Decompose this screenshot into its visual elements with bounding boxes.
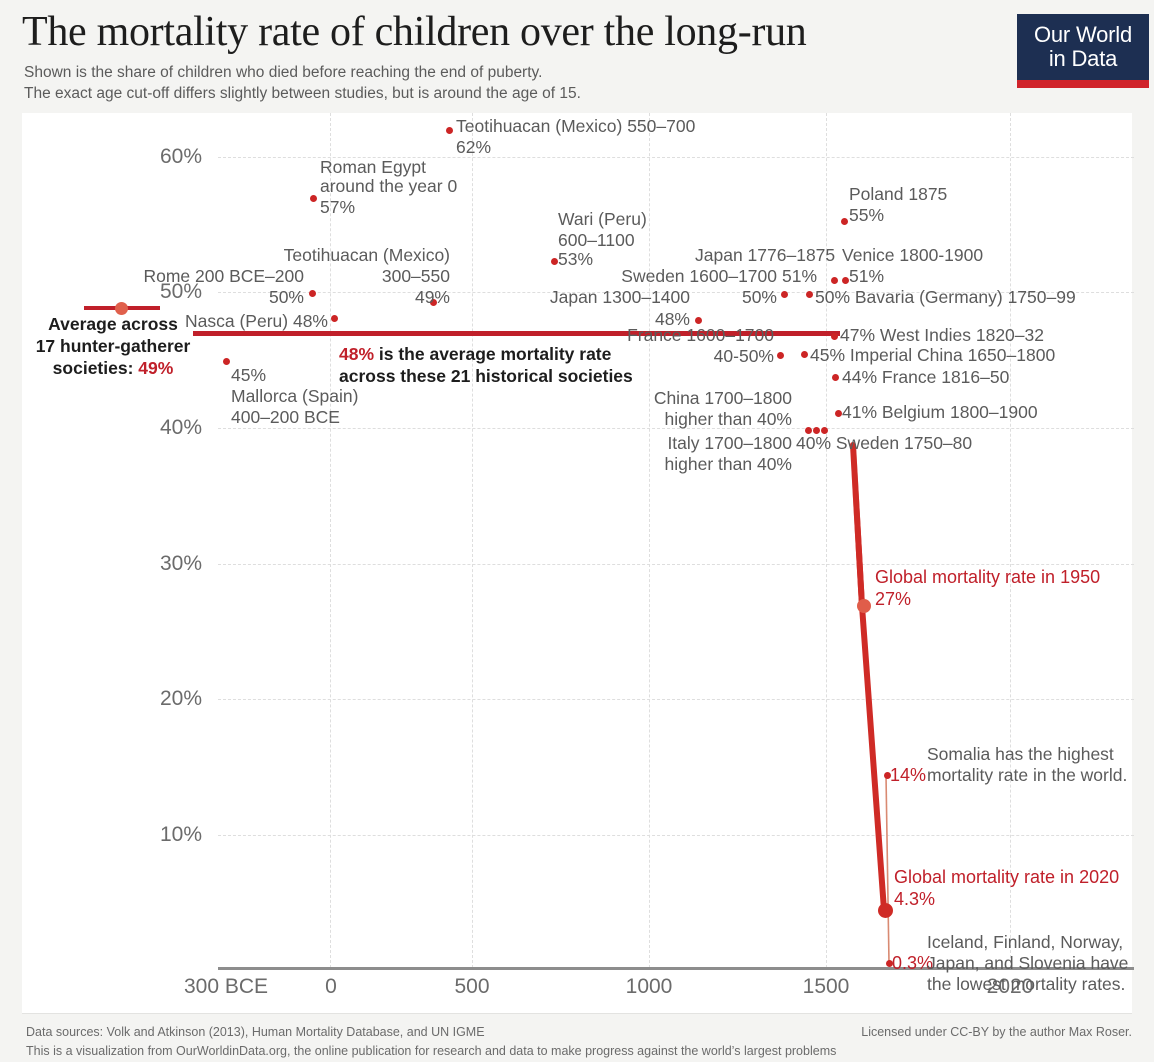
lowest-note-line-2: Japan, and Slovenia have <box>927 953 1128 974</box>
label-bavaria: 50% Bavaria (Germany) 1750–99 <box>815 287 1076 308</box>
label-roman-egypt-value: 57% <box>320 197 355 218</box>
lowest-note-line-1: Iceland, Finland, Norway, <box>927 932 1123 953</box>
hunter-gatherer-line-1: Average across <box>48 314 178 334</box>
x-tick-300bce: 300 BCE <box>166 975 286 999</box>
average-48-annotation: 48% is the average mortality rate across… <box>339 343 633 387</box>
label-china-1700-note: higher than 40% <box>612 409 792 430</box>
global-1950-title: Global mortality rate in 1950 <box>875 567 1100 588</box>
point-imperial-china-1650-1800[interactable] <box>801 351 808 358</box>
label-venice-value: 51% <box>849 266 884 287</box>
page-footer: Data sources: Volk and Atkinson (2013), … <box>0 1014 1154 1062</box>
gridline-20 <box>218 699 1134 700</box>
label-wari-l1: Wari (Peru) <box>558 209 647 230</box>
label-mallorca-name: Mallorca (Spain) <box>231 386 358 407</box>
page-header: The mortality rate of children over the … <box>0 0 1154 112</box>
point-global-1950[interactable] <box>857 599 871 613</box>
global-2020-value: 4.3% <box>894 889 935 910</box>
point-mallorca-spain[interactable] <box>223 358 230 365</box>
point-roman-egypt[interactable] <box>310 195 317 202</box>
global-2020-title: Global mortality rate in 2020 <box>894 867 1119 888</box>
footer-publication[interactable]: This is a visualization from OurWorldinD… <box>26 1042 836 1061</box>
label-china-1700-name: China 1700–1800 <box>612 388 792 409</box>
somalia-note-line-1: Somalia has the highest <box>927 744 1114 765</box>
label-roman-egypt-l1: Roman Egypt <box>320 157 426 178</box>
label-italy-1700-note: higher than 40% <box>612 454 792 475</box>
label-belgium: 41% Belgium 1800–1900 <box>842 402 1038 423</box>
label-japan-1300-name: Japan 1300–1400 <box>542 287 690 308</box>
label-mallorca-value: 45% <box>231 365 266 386</box>
vgridline-0 <box>330 113 331 968</box>
vgridline-1500 <box>826 113 827 968</box>
label-imperial-china: 45% Imperial China 1650–1800 <box>810 345 1055 366</box>
point-global-2020[interactable] <box>878 903 893 918</box>
x-tick-500: 500 <box>412 975 532 999</box>
label-venice-name: Venice 1800-1900 <box>842 245 983 266</box>
label-japan-1776-name: Japan 1776–1875 <box>695 245 835 266</box>
label-teotihuacan-300-550-name: Teotihuacan (Mexico) <box>270 245 450 266</box>
point-venice-1800-1900[interactable] <box>842 277 849 284</box>
average-48-value: 48% <box>339 344 374 364</box>
point-teotihuacan-550-700[interactable] <box>446 127 453 134</box>
gridline-30 <box>218 564 1134 565</box>
label-wari-l2: 600–1100 <box>558 230 635 251</box>
global-1950-value: 27% <box>875 589 911 610</box>
label-france-1816: 44% France 1816–50 <box>842 367 1009 388</box>
owid-logo-line-1: Our World <box>1034 23 1132 47</box>
label-sweden-1600-name: Sweden 1600–1700 <box>612 266 777 287</box>
average-48-line-2: across these 21 historical societies <box>339 366 633 386</box>
point-france-1816-50[interactable] <box>832 374 839 381</box>
average-48-text: is the average mortality rate <box>374 344 611 364</box>
label-japan-1776-value: 51% <box>782 266 817 287</box>
owid-logo[interactable]: Our World in Data <box>1017 14 1149 80</box>
point-japan-1776-1875[interactable] <box>831 277 838 284</box>
point-japan-1300-1400[interactable] <box>695 317 702 324</box>
hunter-gatherer-annotation: Average across 17 hunter-gatherer societ… <box>33 313 193 379</box>
point-poland-1875[interactable] <box>841 218 848 225</box>
footer-license: Licensed under CC-BY by the author Max R… <box>861 1023 1132 1042</box>
label-france-1600-value: 40-50% <box>682 346 774 367</box>
point-belgium-1800-1900[interactable] <box>835 410 842 417</box>
lowest-note-line-3: the lowest mortality rates. <box>927 974 1125 995</box>
vgridline-1000 <box>649 113 650 968</box>
label-rome-name: Rome 200 BCE–200 <box>132 266 304 287</box>
y-tick-30: 30% <box>122 552 202 576</box>
hunter-gatherer-line-3: societies: <box>53 358 139 378</box>
point-west-indies-1820-32[interactable] <box>831 333 838 340</box>
label-roman-egypt-l2: around the year 0 <box>320 176 457 197</box>
label-sweden-1750: 40% Sweden 1750–80 <box>796 433 972 454</box>
hunter-gatherer-line-2: 17 hunter-gatherer <box>36 336 191 356</box>
label-teotihuacan-550-700-value: 62% <box>456 137 491 158</box>
x-tick-1500: 1500 <box>766 975 886 999</box>
owid-logo-underbar <box>1017 80 1149 88</box>
label-wari-value: 53% <box>558 249 593 270</box>
label-mallorca-period: 400–200 BCE <box>231 407 340 428</box>
label-poland-value: 55% <box>849 205 884 226</box>
point-bavaria-1750-99[interactable] <box>806 291 813 298</box>
label-teotihuacan-550-700-name: Teotihuacan (Mexico) 550–700 <box>456 116 695 137</box>
y-tick-40: 40% <box>122 416 202 440</box>
footer-sources: Data sources: Volk and Atkinson (2013), … <box>26 1023 485 1042</box>
somalia-value: 14% <box>890 765 926 786</box>
label-sweden-1600-value: 50% <box>712 287 777 308</box>
page-title: The mortality rate of children over the … <box>22 8 806 56</box>
vgridline-2020 <box>1010 113 1011 968</box>
y-tick-20: 20% <box>122 687 202 711</box>
chart-panel: 60% 50% 40% 30% 20% 10% 300 BCE 0 500 10… <box>22 113 1132 1013</box>
subtitle-line-1: Shown is the share of children who died … <box>24 62 581 83</box>
point-sweden-1600-1700[interactable] <box>781 291 788 298</box>
hunter-gatherer-value: 49% <box>138 358 173 378</box>
label-rome-value: 50% <box>222 287 304 308</box>
x-tick-0: 0 <box>271 975 391 999</box>
page-subtitle: Shown is the share of children who died … <box>24 62 581 104</box>
x-tick-1000: 1000 <box>589 975 709 999</box>
vgridline-500 <box>472 113 473 968</box>
subtitle-line-2: The exact age cut-off differs slightly b… <box>24 83 581 104</box>
label-poland-name: Poland 1875 <box>849 184 947 205</box>
label-west-indies: 47% West Indies 1820–32 <box>840 325 1044 346</box>
y-tick-10: 10% <box>122 823 202 847</box>
somalia-note-line-2: mortality rate in the world. <box>927 765 1127 786</box>
y-tick-60: 60% <box>122 145 202 169</box>
point-france-1600-1700[interactable] <box>777 352 784 359</box>
owid-logo-line-2: in Data <box>1049 47 1117 71</box>
point-wari-peru[interactable] <box>551 258 558 265</box>
label-italy-1700-name: Italy 1700–1800 <box>612 433 792 454</box>
point-nasca-peru[interactable] <box>331 315 338 322</box>
gridline-10 <box>218 835 1134 836</box>
